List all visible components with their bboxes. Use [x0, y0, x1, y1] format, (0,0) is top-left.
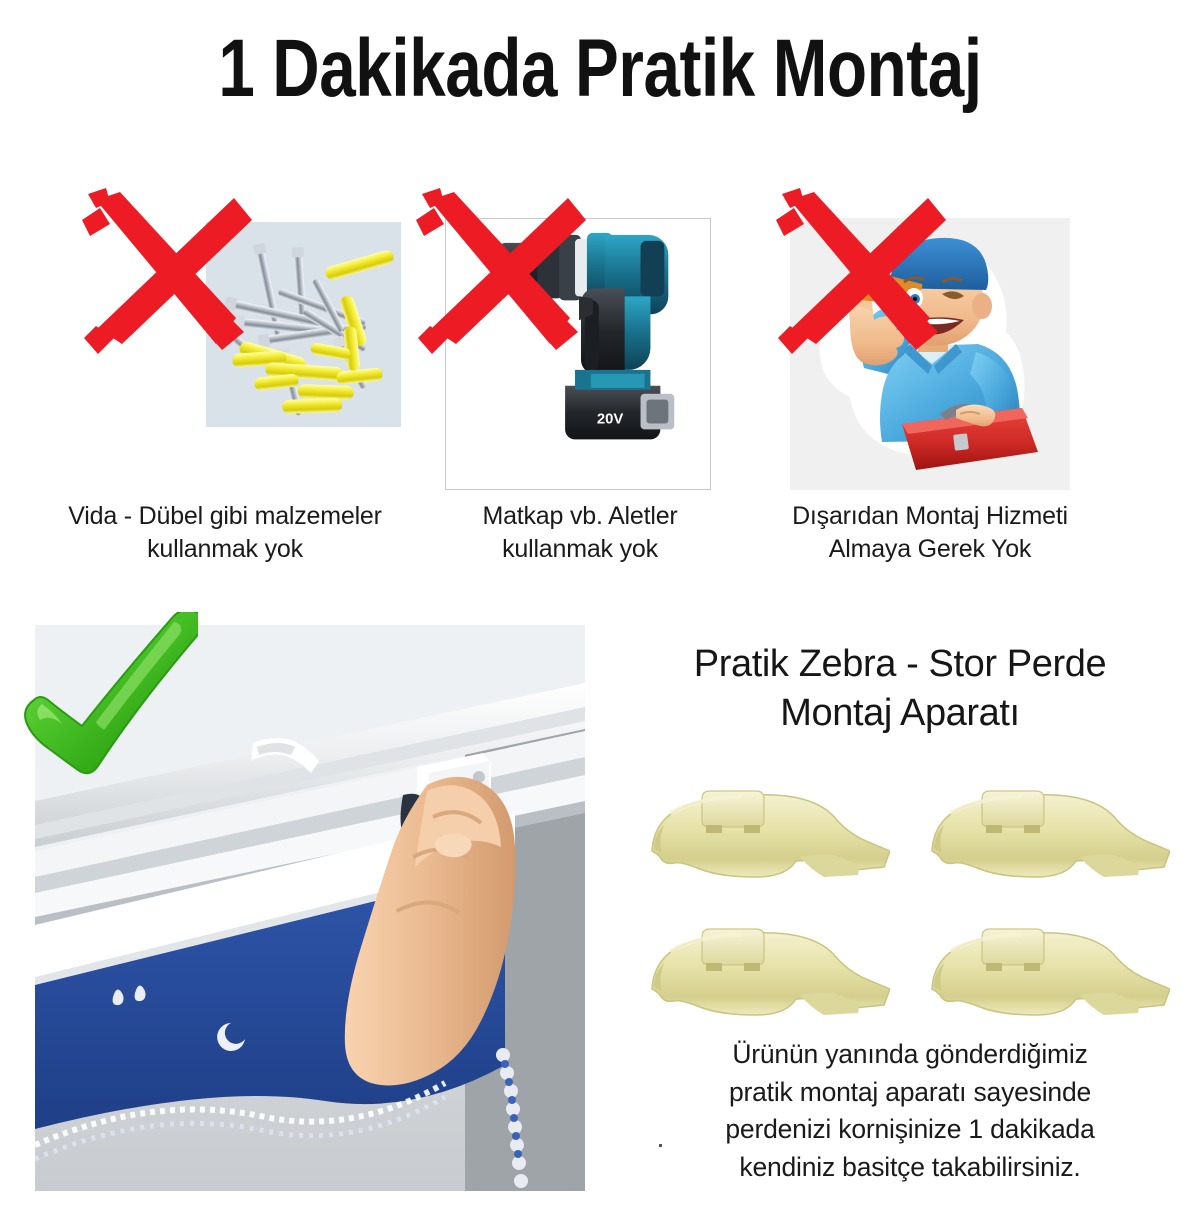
- card-installer-caption: Dışarıdan Montaj Hizmeti Almaya Gerek Yo…: [770, 500, 1090, 565]
- drill-photo: 20V: [445, 218, 711, 490]
- screws-and-plugs-illustration: [206, 222, 401, 427]
- mounting-clip: [920, 765, 1170, 883]
- handyman-photo: [790, 218, 1070, 490]
- mounting-clip: [640, 765, 890, 883]
- page-title: 1 Dakikada Pratik Montaj: [120, 26, 1080, 112]
- stray-dot: [659, 1144, 662, 1147]
- mounting-clip: [640, 903, 890, 1021]
- product-description: Ürünün yanında gönderdiğimiz pratik mont…: [620, 1036, 1200, 1187]
- screws-photo: [206, 222, 401, 427]
- cordless-drill-illustration: 20V: [446, 219, 710, 489]
- card-screws-caption: Vida - Dübel gibi malzemeler kullanmak y…: [30, 500, 420, 565]
- mounting-clips-grid: [610, 755, 1190, 1020]
- forbidden-cards-row: Vida - Dübel gibi malzemeler kullanmak y…: [0, 160, 1200, 580]
- drill-battery-label: 20V: [597, 411, 624, 427]
- green-check-icon: [8, 612, 198, 792]
- handyman-illustration: [790, 218, 1070, 490]
- product-infographic: 1 Dakikada Pratik Montaj: [0, 0, 1200, 1215]
- product-heading: Pratik Zebra - Stor Perde Montaj Aparatı: [600, 640, 1200, 739]
- mounting-clip: [920, 903, 1170, 1021]
- card-drill-caption: Matkap vb. Aletler kullanmak yok: [420, 500, 740, 565]
